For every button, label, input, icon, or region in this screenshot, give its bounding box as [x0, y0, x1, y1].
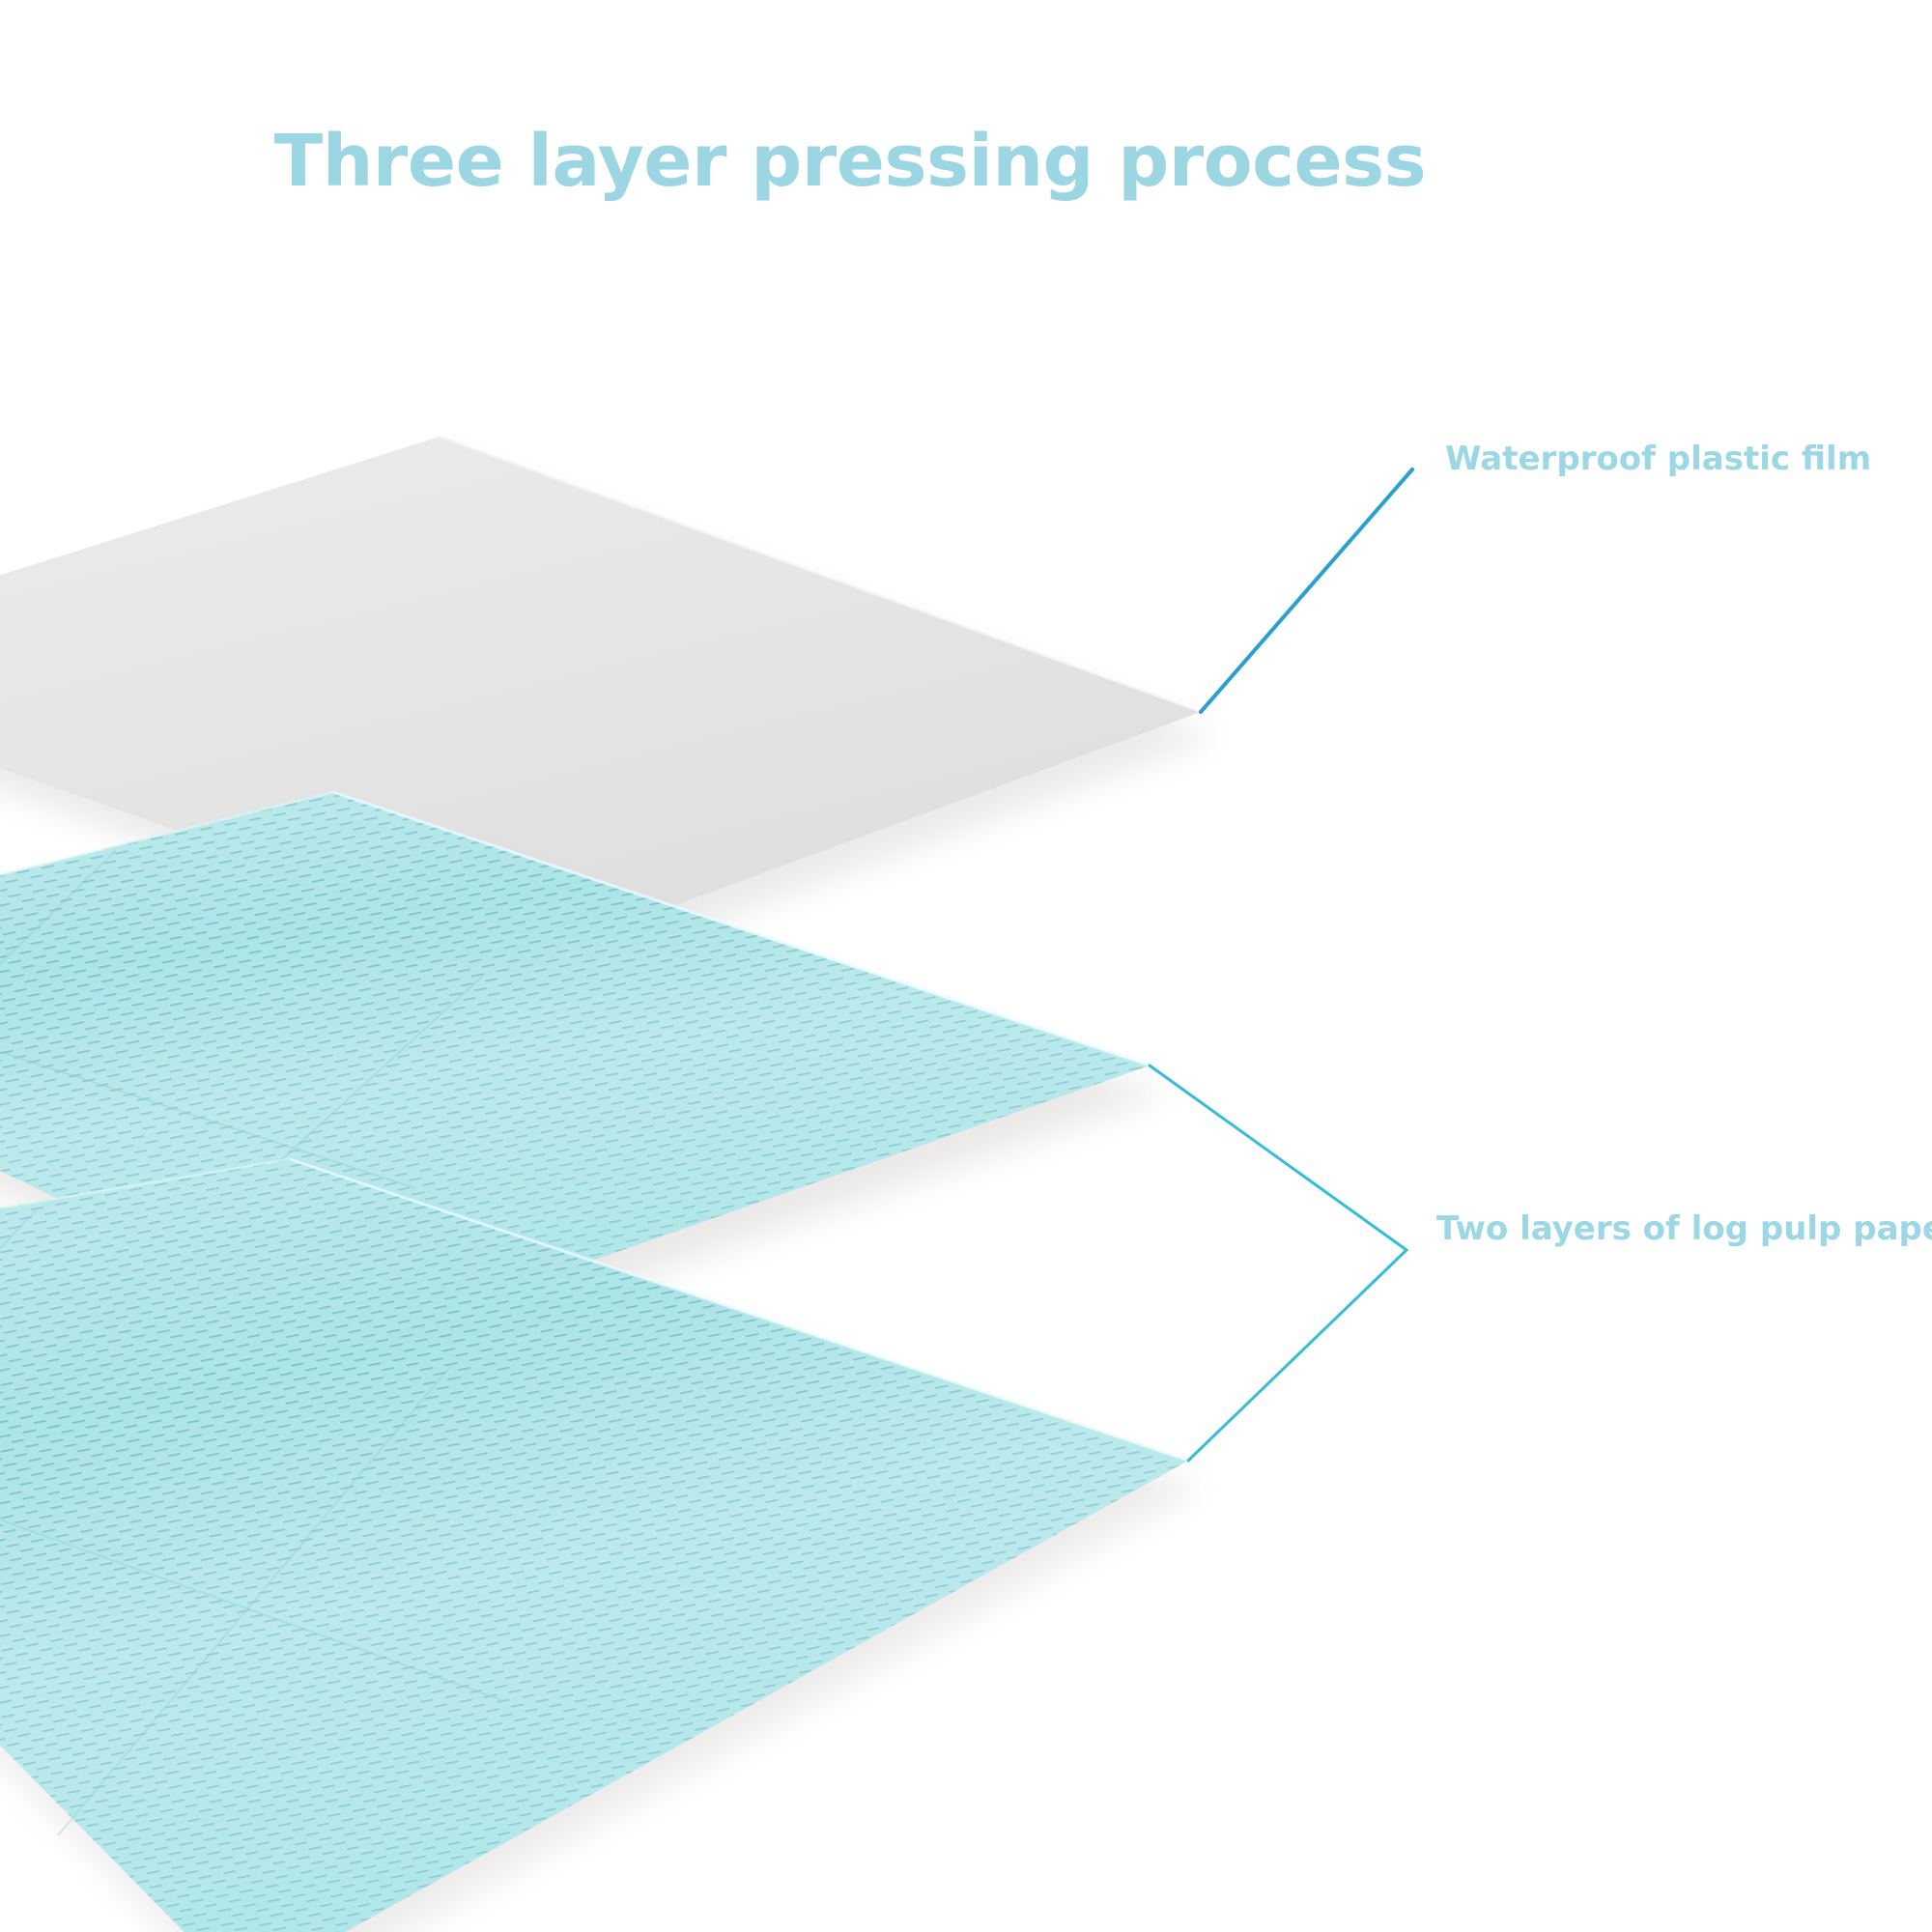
leader-bracket-pulp — [1150, 1065, 1406, 1461]
callout-label-pulp-paper: Two layers of log pulp paper — [1436, 1212, 1932, 1245]
leader-line-film — [1201, 469, 1412, 712]
callout-label-waterproof-film: Waterproof plastic film — [1445, 442, 1871, 475]
layer-pulp-paper-lower — [0, 1159, 1200, 1932]
infographic-canvas: Three layer pressing process — [0, 0, 1932, 1932]
layer-stack-illustration — [0, 0, 1932, 1932]
callout-leader-film — [1201, 469, 1412, 712]
callout-leader-pulp — [1150, 1065, 1406, 1461]
